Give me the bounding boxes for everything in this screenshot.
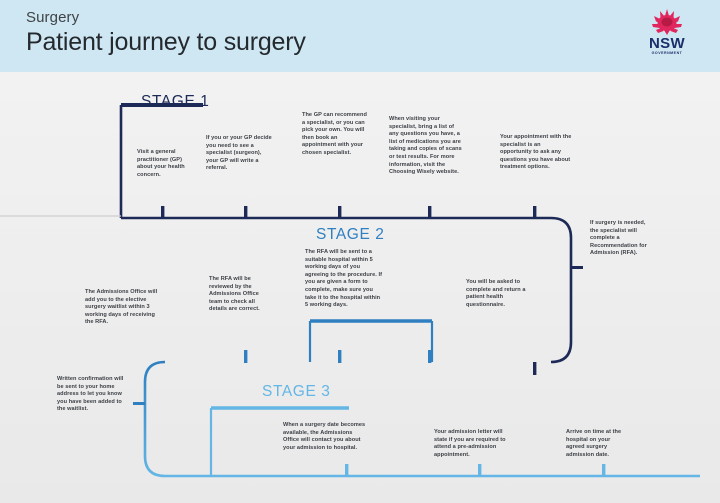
header-eyebrow: Surgery [26,9,79,26]
journey-step-note: The GP can recommend a specialist, or yo… [302,112,368,158]
nsw-logo-wordmark: NSW [649,37,685,51]
journey-step-note: You will be asked to complete and return… [466,279,528,309]
stage-label-2: STAGE 2 [316,226,385,244]
journey-step-note: The RFA will be reviewed by the Admissio… [209,276,271,314]
journey-step-note: If surgery is needed, the specialist wil… [590,220,650,258]
nsw-waratah-icon [647,8,687,36]
journey-step-note: Visit a general practitioner (GP) about … [137,149,199,179]
page-title: Patient journey to surgery [26,28,306,57]
journey-step-note: Arrive on time at the hospital on your a… [566,429,630,459]
journey-step-note: When a surgery date becomes available, t… [283,422,369,452]
journey-step-note: When visiting your specialist, bring a l… [389,116,462,177]
nsw-logo-subtext: GOVERNMENT [652,51,683,56]
journey-step-note: Written confirmation will be sent to you… [57,376,129,414]
journey-step-note: Your appointment with the specialist is … [500,134,572,172]
stage-label-3: STAGE 3 [262,383,331,401]
journey-step-note: Your admission letter will state if you … [434,429,512,459]
journey-step-note: The Admissions Office will add you to th… [85,289,165,327]
journey-diagram-canvas: STAGE 1 STAGE 2 STAGE 3 Visit a general … [0,72,720,503]
stage-label-1: STAGE 1 [141,93,210,111]
page-header: Surgery Patient journey to surgery NSW G [0,0,720,72]
journey-step-note: The RFA will be sent to a suitable hospi… [305,249,383,310]
journey-step-note: If you or your GP decide you need to see… [206,135,272,173]
nsw-government-logo: NSW GOVERNMENT [638,8,696,66]
